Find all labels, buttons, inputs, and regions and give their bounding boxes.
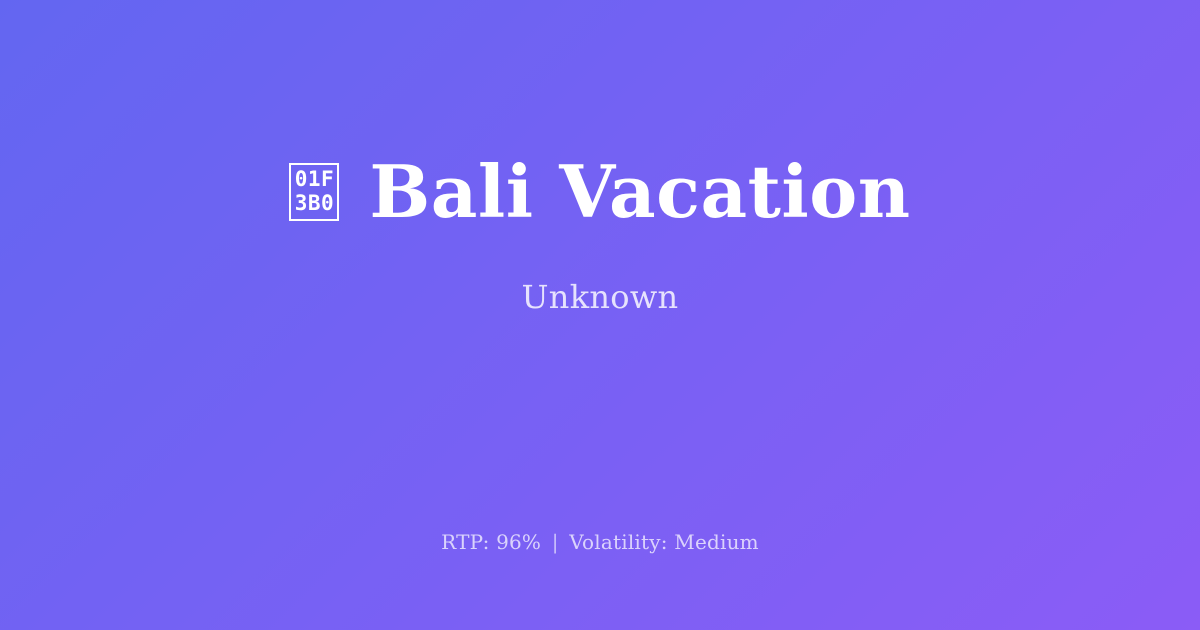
volatility-label: Volatility: (569, 530, 667, 554)
rtp-label: RTP: (441, 530, 489, 554)
title-row: 01F 3B0 Bali Vacation (289, 154, 910, 230)
rtp-value: 96% (496, 530, 541, 554)
meta-separator: | (548, 530, 563, 554)
slot-machine-icon: 01F 3B0 (289, 163, 339, 221)
page-title: Bali Vacation (369, 154, 910, 230)
og-preview-card: 01F 3B0 Bali Vacation Unknown RTP: 96% |… (0, 0, 1200, 630)
page-subtitle: Unknown (522, 278, 679, 316)
meta-footer: RTP: 96% | Volatility: Medium (0, 530, 1200, 554)
hero-block: 01F 3B0 Bali Vacation Unknown (0, 0, 1200, 470)
tofu-codepoint-top: 01F (295, 169, 334, 190)
volatility-value: Medium (674, 530, 759, 554)
tofu-codepoint-bottom: 3B0 (295, 193, 334, 214)
